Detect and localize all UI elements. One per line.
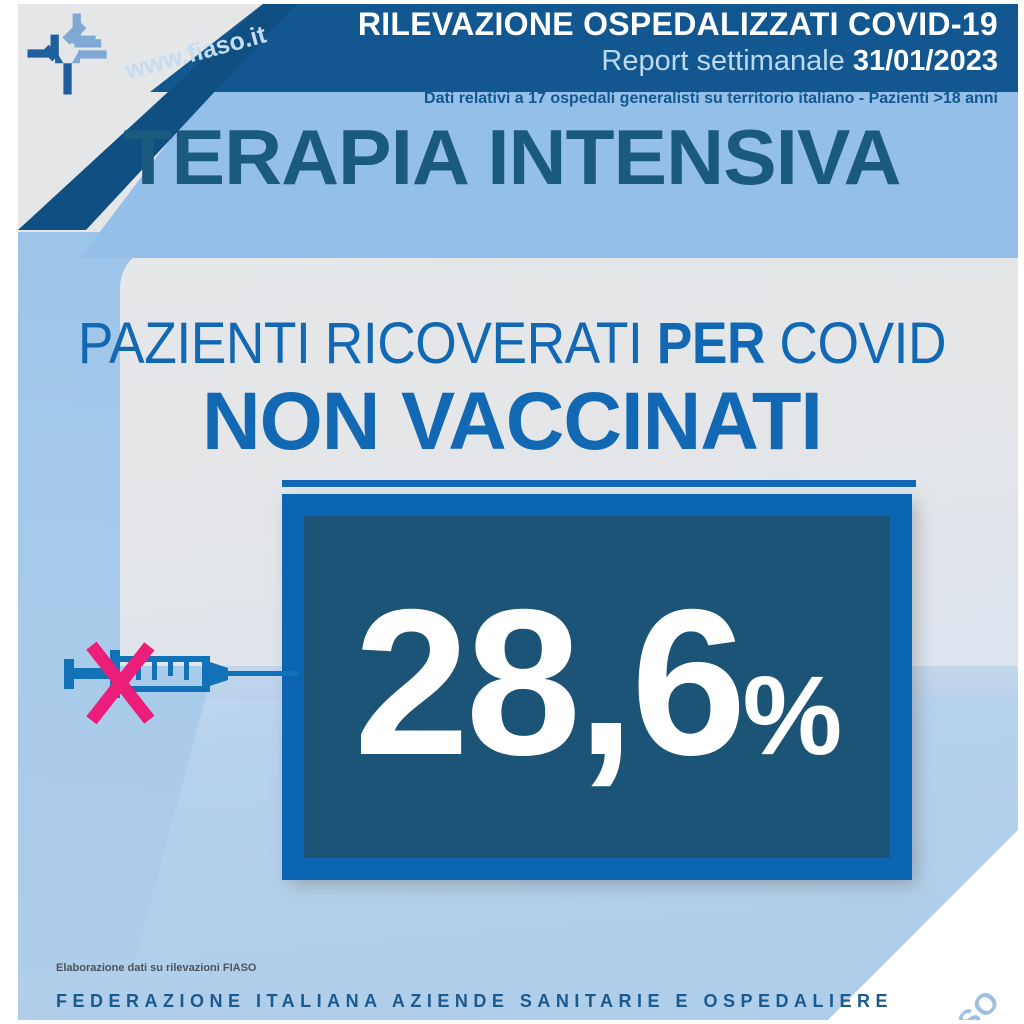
main-heading-line2: NON VACCINATI: [5, 375, 1019, 469]
stat-box: 28,6%: [282, 494, 912, 880]
infographic-poster: RILEVAZIONE OSPEDALIZZATI COVID-19 Repor…: [0, 0, 1024, 1024]
report-subtitle: Report settimanale 31/01/2023: [601, 46, 998, 76]
syringe-crossed-out-icon: [58, 626, 298, 726]
footer-organization-name: FEDERAZIONE ITALIANA AZIENDE SANITARIE E…: [56, 991, 893, 1012]
main-heading-line1-part1: PAZIENTI RICOVERATI: [78, 311, 657, 376]
page-edge-right: [1018, 0, 1024, 1024]
footer-source-note: Elaborazione dati su rilevazioni FIASO: [56, 962, 257, 974]
stat-number: 28,6: [354, 567, 743, 799]
page-edge-bottom: [0, 1020, 1024, 1024]
main-heading-line1-part2: COVID: [765, 311, 946, 376]
report-scope-note: Dati relativi a 17 ospedali generalisti …: [424, 90, 998, 108]
page-edge-top: [0, 0, 1024, 4]
heading-underline: [282, 480, 916, 487]
stat-value-group: 28,6%: [354, 579, 840, 787]
report-period-label: Report settimanale: [601, 45, 852, 77]
stat-box-inner: 28,6%: [304, 516, 890, 858]
main-heading-line1-emphasis: PER: [657, 311, 765, 376]
stat-unit: %: [743, 653, 841, 778]
report-date: 31/01/2023: [853, 45, 998, 77]
main-heading-line1: PAZIENTI RICOVERATI PER COVID: [41, 310, 983, 377]
section-title: TERAPIA INTENSIVA: [0, 112, 1024, 203]
fiaso-pinwheel-logo-icon[interactable]: [22, 8, 114, 100]
report-title: RILEVAZIONE OSPEDALIZZATI COVID-19: [358, 8, 998, 42]
page-edge-left: [0, 0, 18, 1024]
